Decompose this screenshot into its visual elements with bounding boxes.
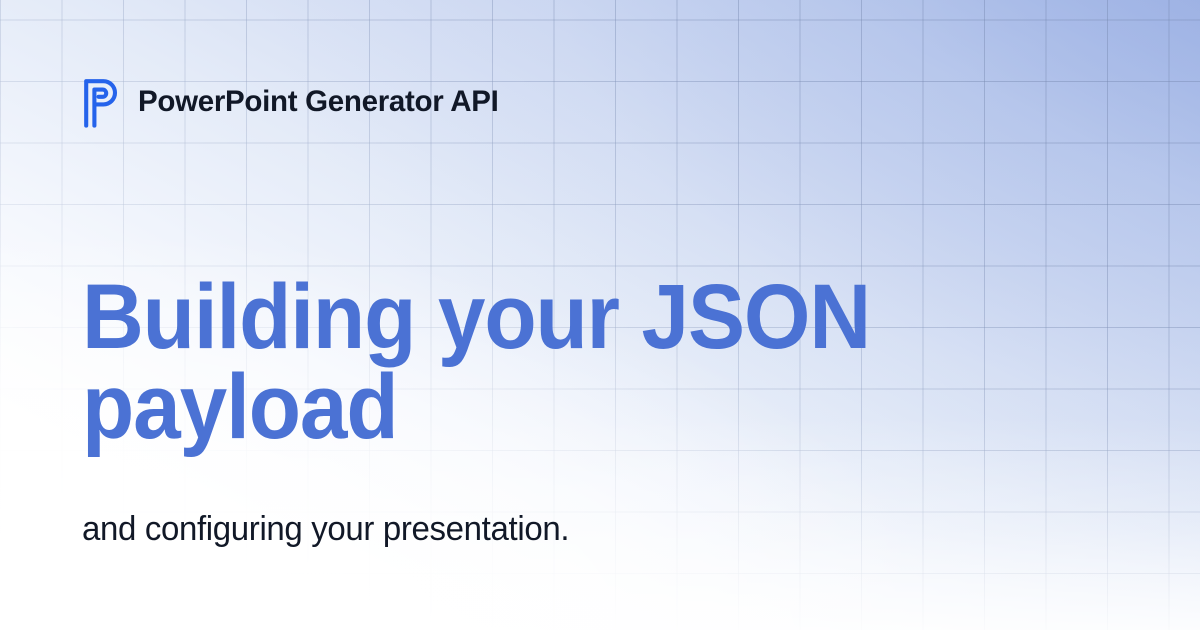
powerpoint-p-logo-icon — [82, 78, 120, 128]
brand-lockup: PowerPoint Generator API — [82, 76, 499, 130]
page-title-line-1: Building your JSON — [82, 272, 900, 362]
page-title-line-2: payload — [82, 362, 900, 452]
og-card-canvas: PowerPoint Generator API Building your J… — [0, 0, 1200, 630]
brand-name: PowerPoint Generator API — [138, 87, 499, 119]
page-subtitle: and configuring your presentation. — [82, 508, 569, 551]
card-content: PowerPoint Generator API Building your J… — [0, 0, 1200, 630]
page-title: Building your JSON payload — [82, 272, 900, 452]
